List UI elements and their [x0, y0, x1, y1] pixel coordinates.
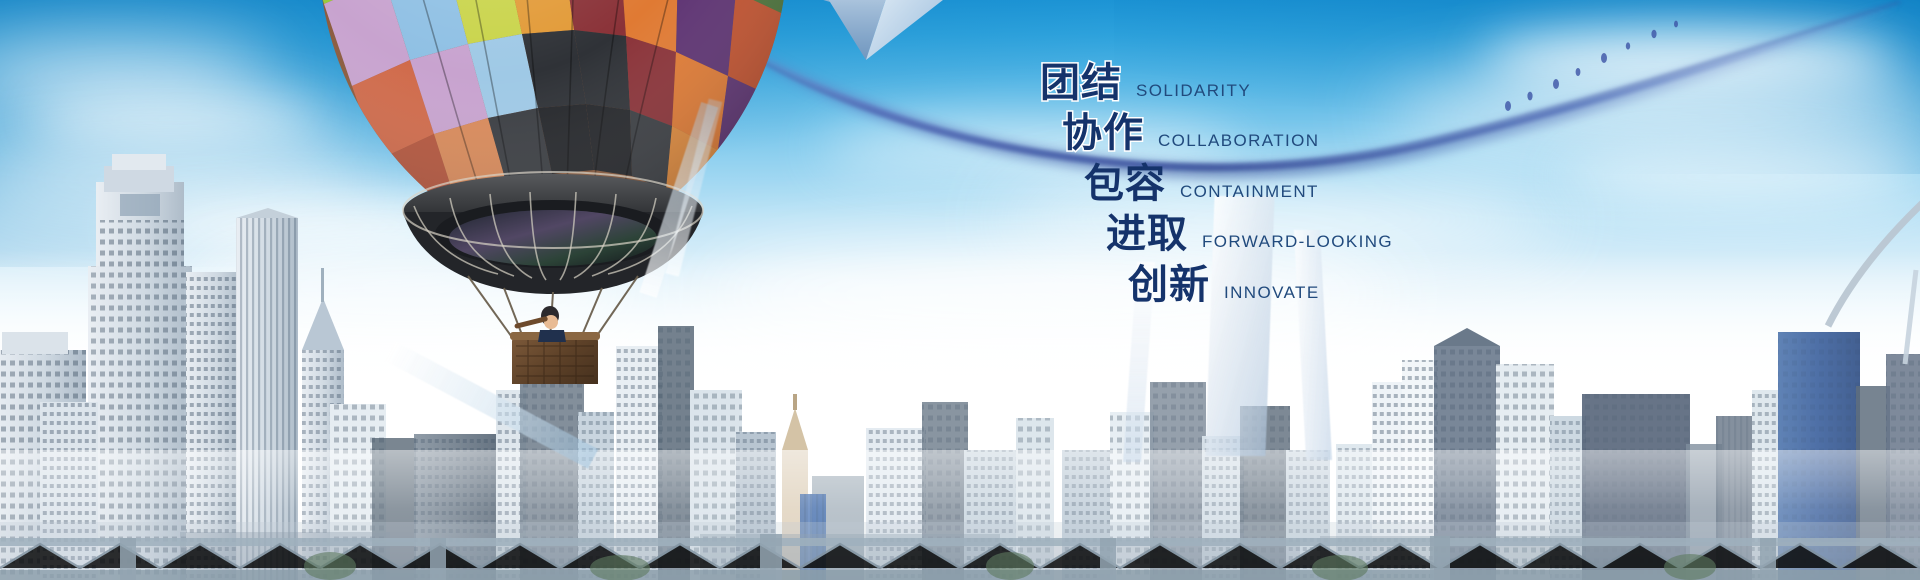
slogan-cn: 协作 — [1062, 112, 1144, 154]
glass-sail-shape — [770, 0, 980, 86]
hot-air-balloon — [318, 0, 788, 384]
slogan-cn: 进取 — [1106, 213, 1188, 255]
slogan-list: 团结 SOLIDARITY 协作 COLLABORATION 包容 CONTAI… — [1040, 62, 1600, 314]
slogan-row: 进取 FORWARD-LOOKING — [1106, 213, 1600, 255]
slogan-cn: 团结 — [1040, 62, 1122, 104]
slogan-en: SOLIDARITY — [1136, 81, 1251, 101]
truss-bridge — [0, 522, 1920, 580]
slogan-row: 包容 CONTAINMENT — [1084, 163, 1600, 205]
slogan-en: COLLABORATION — [1158, 131, 1319, 151]
slogan-en: CONTAINMENT — [1180, 182, 1319, 202]
slogan-en: INNOVATE — [1224, 283, 1320, 303]
slogan-row: 协作 COLLABORATION — [1062, 112, 1600, 154]
slogan-row: 团结 SOLIDARITY — [1040, 62, 1600, 104]
slogan-row: 创新 INNOVATE — [1128, 264, 1600, 306]
slogan-en: FORWARD-LOOKING — [1202, 232, 1393, 252]
slogan-cn: 包容 — [1084, 163, 1166, 205]
culture-banner: 团结 SOLIDARITY 协作 COLLABORATION 包容 CONTAI… — [0, 0, 1920, 580]
city-skyline — [0, 150, 1920, 580]
slogan-cn: 创新 — [1128, 264, 1210, 306]
